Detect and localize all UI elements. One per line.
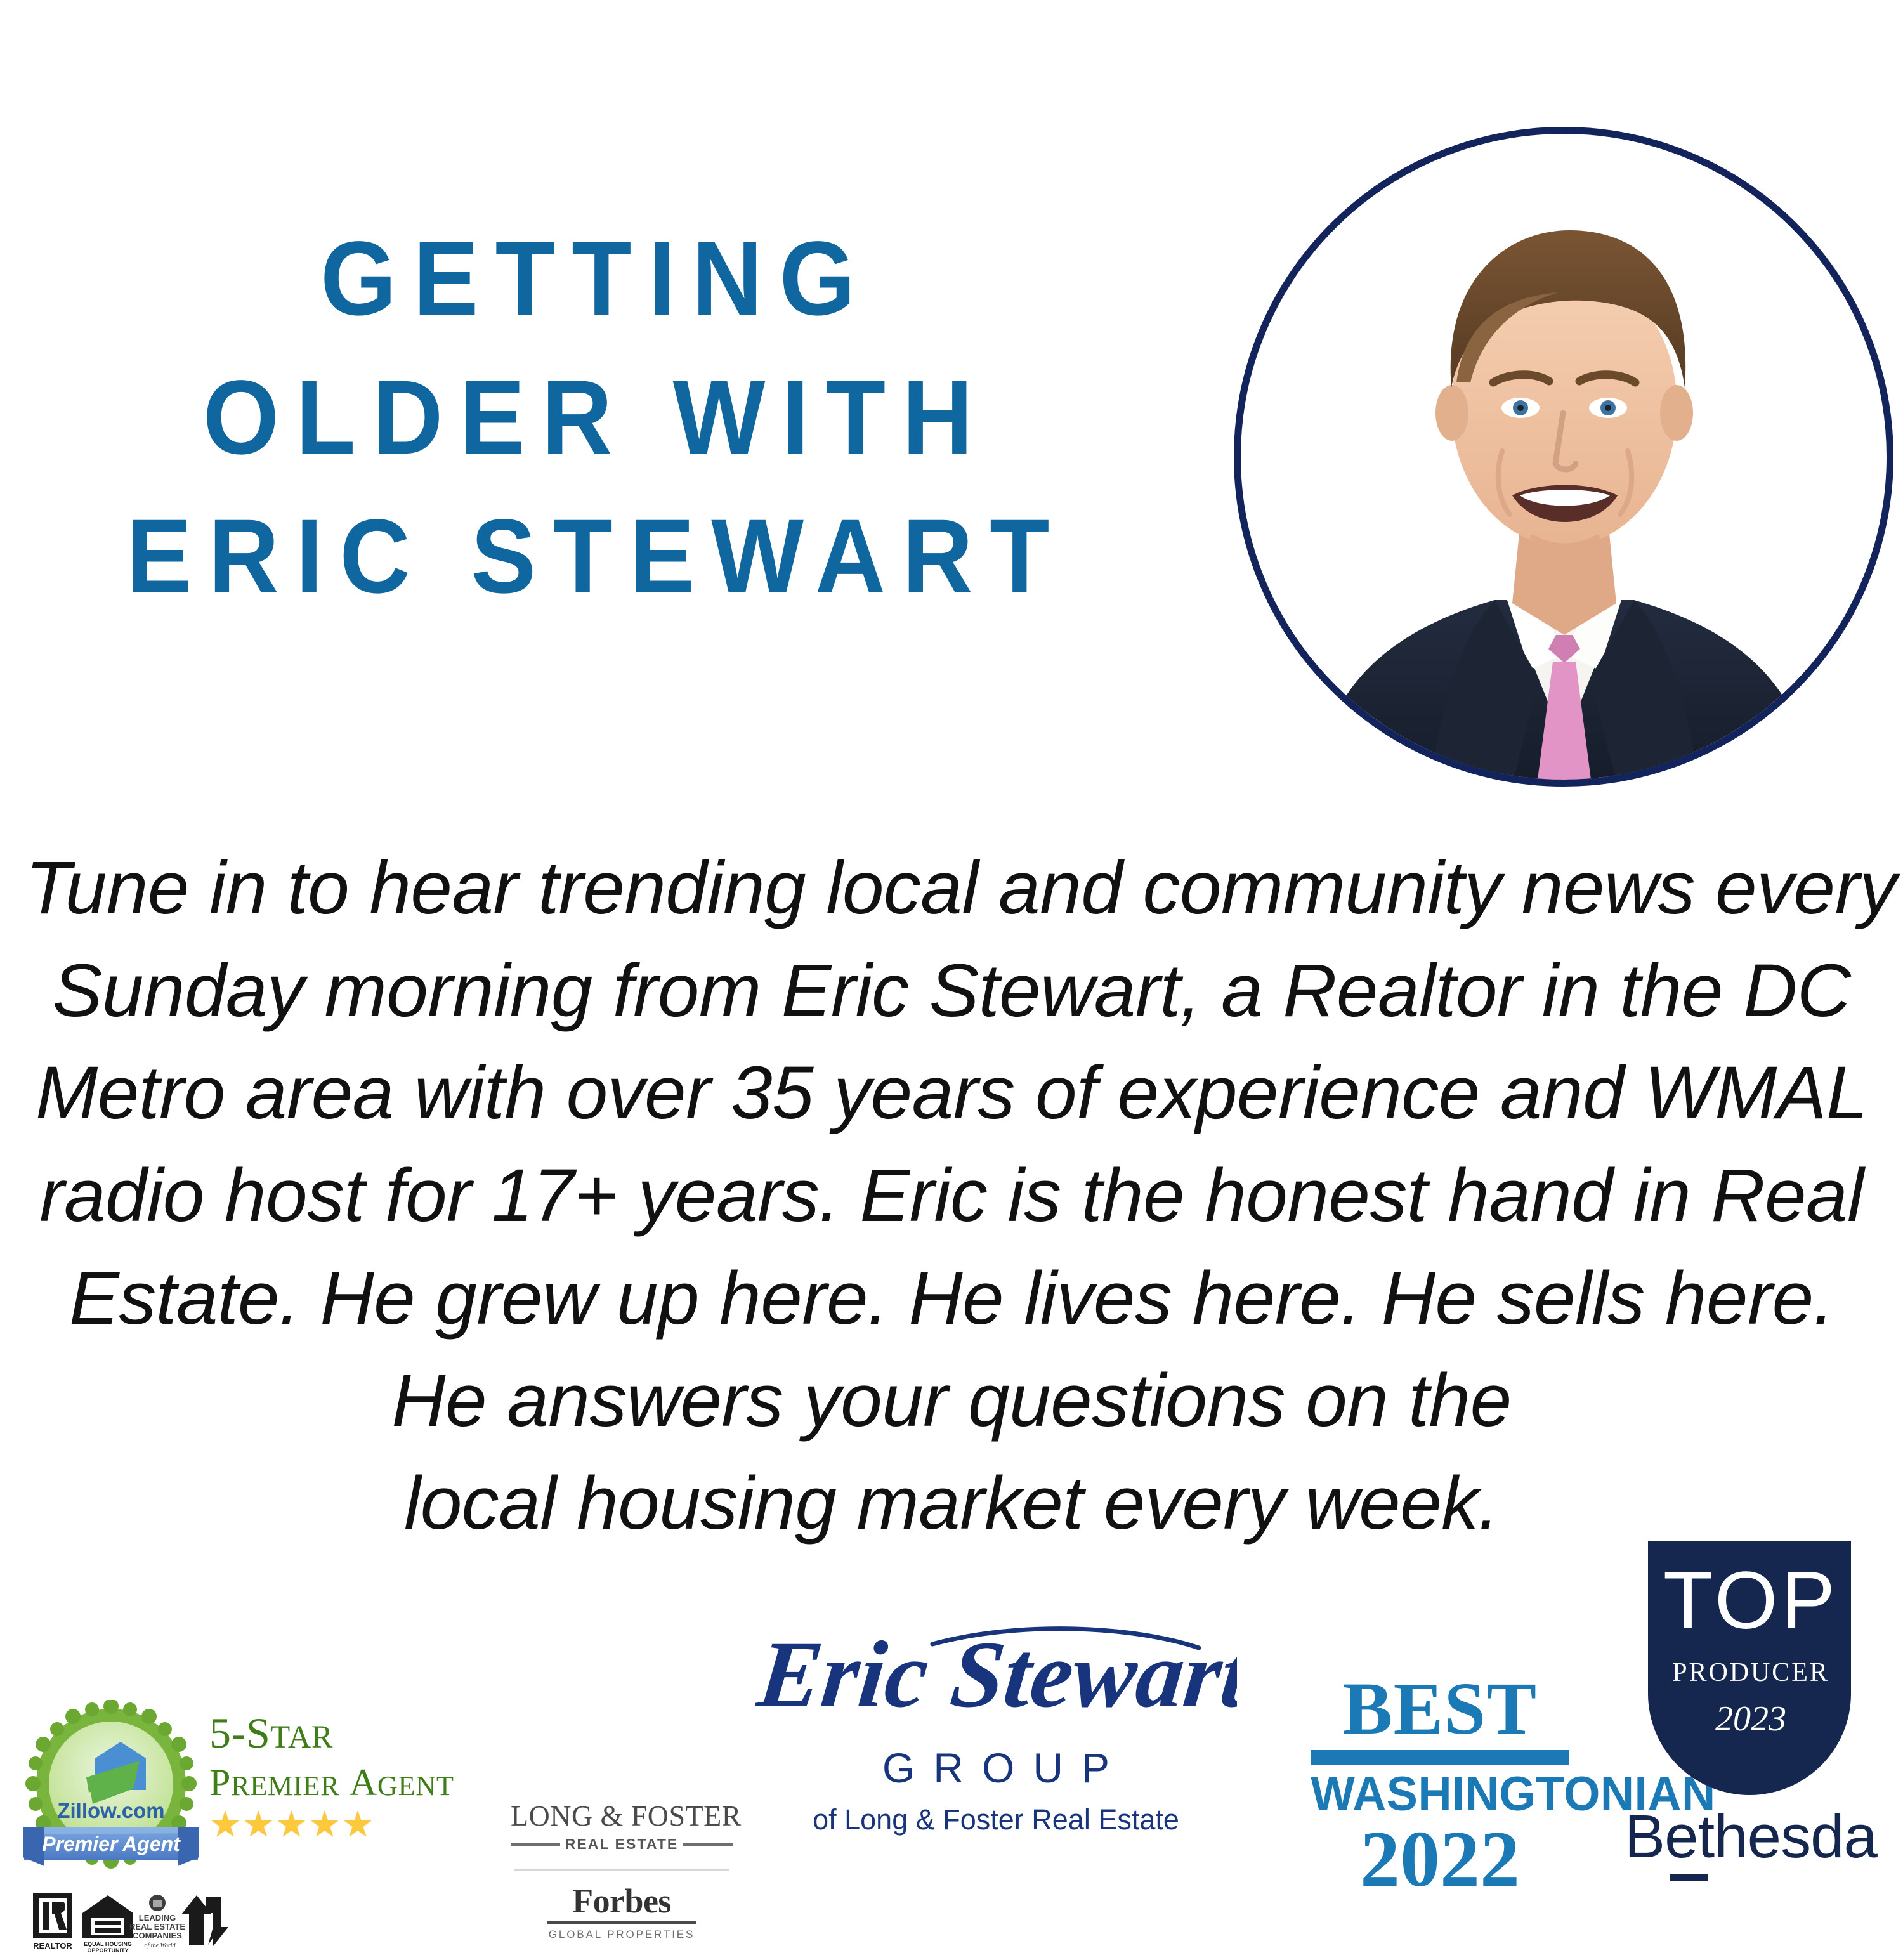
best-washingtonian-best: BEST (1307, 1675, 1573, 1744)
zillow-5star-label: 5-STAR (209, 1711, 438, 1754)
svg-text:OPPORTUNITY: OPPORTUNITY (87, 1947, 128, 1954)
bethesda-magazine-wordmark: Bethesda (1618, 1806, 1884, 1867)
equal-housing-mark: EQUAL HOUSING OPPORTUNITY (82, 1895, 133, 1954)
social-graphic-card: GETTING OLDER WITH ERIC STEWART (0, 0, 1903, 1903)
top-producer-top: TOP (1618, 1560, 1884, 1642)
top-producer-producer: PRODUCER (1618, 1659, 1884, 1686)
zillow-premier-agent-badge: Zillow.com Premier Agent 5-STAR PREMIER … (19, 1700, 438, 1903)
description-line-1: Tune in to hear trending local and commu… (25, 837, 1878, 940)
description-paragraph: Tune in to hear trending local and commu… (25, 837, 1878, 1555)
svg-text:REAL ESTATE: REAL ESTATE (129, 1922, 185, 1931)
description-line-4: radio host for 17+ years. Eric is the ho… (25, 1145, 1878, 1248)
description-line-2: Sunday morning from Eric Stewart, a Real… (25, 940, 1878, 1043)
headline-line-1: GETTING (42, 209, 1151, 348)
best-washingtonian-name: WASHINGTONIAN (1311, 1770, 1569, 1819)
svg-text:LEADING: LEADING (139, 1913, 176, 1923)
rule-left (511, 1843, 560, 1846)
eric-stewart-group-logo: Eric Stewart GROUP of Long & Foster Real… (755, 1611, 1237, 1834)
bethesda-underline (1670, 1874, 1708, 1881)
long-and-foster-logo: LONG & FOSTER REAL ESTATE Forbes GLOBAL … (511, 1801, 733, 1941)
long-and-foster-name: LONG & FOSTER (511, 1801, 733, 1831)
forbes-wordmark: Forbes (511, 1884, 733, 1918)
long-and-foster-subtitle: REAL ESTATE (565, 1836, 679, 1853)
description-line-6: He answers your questions on the (25, 1350, 1878, 1453)
best-washingtonian-badge: BEST WASHINGTONIAN 2022 (1307, 1675, 1573, 1900)
forbes-subtitle: GLOBAL PROPERTIES (511, 1928, 733, 1941)
best-washingtonian-year: 2022 (1307, 1820, 1573, 1900)
star-rating-icons: ★★★★★ (209, 1806, 438, 1842)
zillow-badge-text: 5-STAR PREMIER AGENT ★★★★★ (209, 1711, 438, 1842)
zillow-seal-icon: Zillow.com Premier Agent (19, 1700, 203, 1884)
association-marks: REALTOR EQUAL HOUSING OPPORTUNITY LEADIN… (30, 1890, 240, 1960)
forbes-rule (547, 1921, 696, 1924)
best-washingtonian-bar (1311, 1750, 1569, 1765)
page-title: GETTING OLDER WITH ERIC STEWART (42, 209, 1151, 626)
top-producer-year: 2023 (1618, 1701, 1884, 1737)
svg-text:COMPANIES: COMPANIES (133, 1931, 182, 1940)
rule-right (683, 1843, 733, 1846)
realtor-r-mark: REALTOR (33, 1893, 72, 1950)
eric-stewart-script-svg: Eric Stewart (755, 1611, 1237, 1744)
headline-line-2: OLDER WITH (42, 348, 1151, 487)
headshot-ring (1234, 127, 1893, 787)
description-line-3: Metro area with over 35 years of experie… (25, 1042, 1878, 1145)
zillow-premier-agent-label: PREMIER AGENT (209, 1763, 438, 1801)
arrows-mark (181, 1895, 228, 1946)
svg-text:REALTOR: REALTOR (33, 1941, 72, 1950)
svg-text:EQUAL HOUSING: EQUAL HOUSING (84, 1941, 132, 1947)
top-producer-badge: TOP PRODUCER 2023 Bethesda (1618, 1541, 1884, 1903)
eric-stewart-script-wordmark: Eric Stewart (755, 1611, 1237, 1744)
svg-text:of the World: of the World (144, 1942, 176, 1949)
description-line-5: Estate. He grew up here. He lives here. … (25, 1248, 1878, 1350)
footer-logo-bar: Zillow.com Premier Agent 5-STAR PREMIER … (0, 1541, 1903, 1903)
eric-stewart-group-subtitle: of Long & Foster Real Estate (755, 1805, 1237, 1834)
headshot-portrait (1234, 127, 1893, 787)
headline-line-3: ERIC STEWART (42, 487, 1151, 626)
long-and-foster-subtitle-row: REAL ESTATE (511, 1836, 733, 1853)
svg-text:Zillow.com: Zillow.com (57, 1799, 164, 1822)
description-line-7: local housing market every week. (25, 1453, 1878, 1555)
eric-stewart-group-word: GROUP (755, 1747, 1237, 1789)
svg-text:Premier Agent: Premier Agent (42, 1833, 181, 1855)
divider (514, 1869, 729, 1871)
